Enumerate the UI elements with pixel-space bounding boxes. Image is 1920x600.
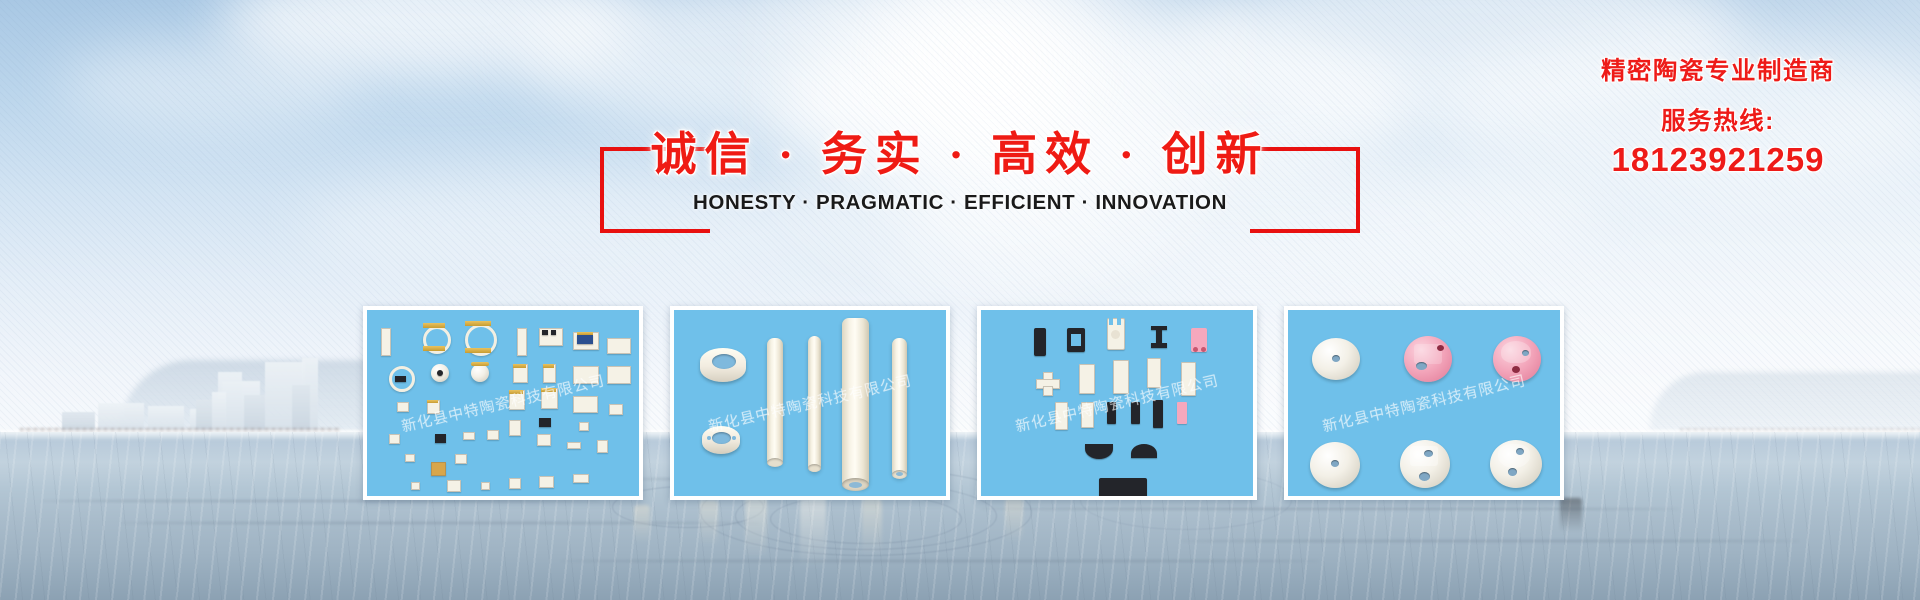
hotline-label: 服务热线: (1568, 106, 1868, 138)
hotline-number[interactable]: 18123921259 (1568, 140, 1868, 180)
slogan-block: 诚信 · 务实 · 高效 · 创新 HONESTY · PRAGMATIC · … (560, 125, 1360, 245)
product-panel-ceramic-discs[interactable]: 新化县中特陶瓷科技有限公司 (1284, 306, 1564, 500)
company-tagline: 精密陶瓷专业制造商 (1568, 56, 1868, 88)
product-panel-chip-components[interactable]: 新化县中特陶瓷科技有限公司 (363, 306, 643, 500)
bracket-bottom-left (600, 229, 710, 233)
product-panel-strip: 新化县中特陶瓷科技有限公司 (363, 306, 1573, 500)
slogan-english: HONESTY · PRAGMATIC · EFFICIENT · INNOVA… (560, 191, 1360, 215)
product-panel-ceramic-tubes[interactable]: 新化县中特陶瓷科技有限公司 (670, 306, 950, 500)
product-panel-ceramic-blocks[interactable]: 新化县中特陶瓷科技有限公司 (977, 306, 1257, 500)
slogan-chinese: 诚信 · 务实 · 高效 · 创新 (560, 125, 1360, 185)
bracket-bottom-right (1250, 229, 1360, 233)
hero-banner: 诚信 · 务实 · 高效 · 创新 HONESTY · PRAGMATIC · … (0, 0, 1920, 600)
contact-block: 精密陶瓷专业制造商 服务热线: 18123921259 (1568, 56, 1868, 180)
